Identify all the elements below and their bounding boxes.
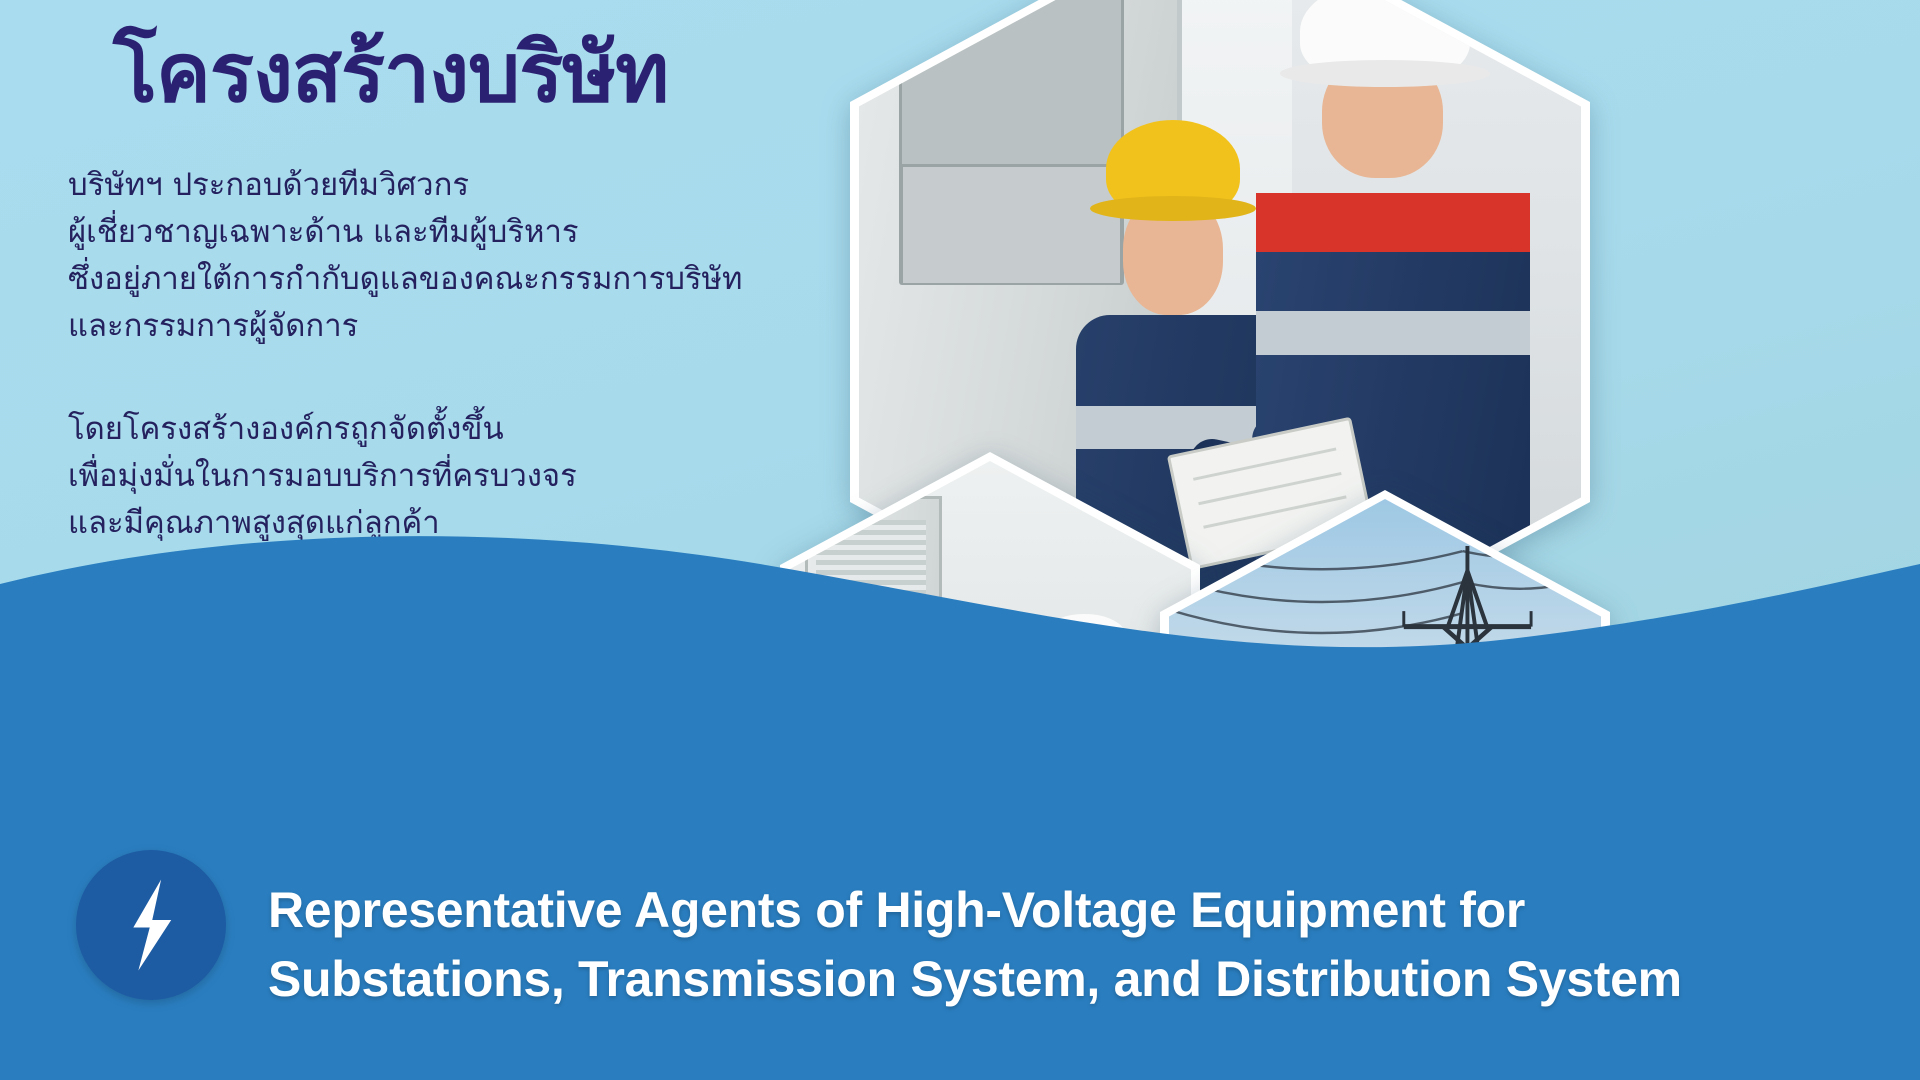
body-copy: บริษัทฯ ประกอบด้วยทีมวิศวกร ผู้เชี่ยวชาญ… [68,162,860,548]
banner-line-2: Substations, Transmission System, and Di… [268,945,1910,1014]
paragraph-line: ซึ่งอยู่ภายใต้การกำกับดูแลของคณะกรรมการบ… [68,261,742,297]
paragraph-1: บริษัทฯ ประกอบด้วยทีมวิศวกร ผู้เชี่ยวชาญ… [68,162,860,350]
paragraph-line: ผู้เชี่ยวชาญเฉพาะด้าน และทีมผู้บริหาร [68,214,579,250]
company-logo-badge [76,850,226,1000]
paragraph-line: และมีคุณภาพสูงสุดแก่ลูกค้า [68,505,440,541]
slide-root: โครงสร้างบริษัท บริษัทฯ ประกอบด้วยทีมวิศ… [0,0,1920,1080]
photo-gallery [760,0,1920,710]
lightning-bolt-icon [111,877,191,973]
banner-line-1: Representative Agents of High-Voltage Eq… [268,876,1910,945]
bottom-banner: Representative Agents of High-Voltage Eq… [0,830,1920,1080]
banner-tagline: Representative Agents of High-Voltage Eq… [268,876,1910,1014]
paragraph-line: บริษัทฯ ประกอบด้วยทีมวิศวกร [68,167,469,203]
paragraph-line: และกรรมการผู้จัดการ [68,308,358,344]
paragraph-2: โดยโครงสร้างองค์กรถูกจัดตั้งขึ้น เพื่อมุ… [68,406,860,547]
page-title: โครงสร้างบริษัท [68,20,860,120]
paragraph-line: เพื่อมุ่งมั่นในการมอบบริการที่ครบวงจร [68,458,577,494]
paragraph-line: โดยโครงสร้างองค์กรถูกจัดตั้งขึ้น [68,411,504,447]
